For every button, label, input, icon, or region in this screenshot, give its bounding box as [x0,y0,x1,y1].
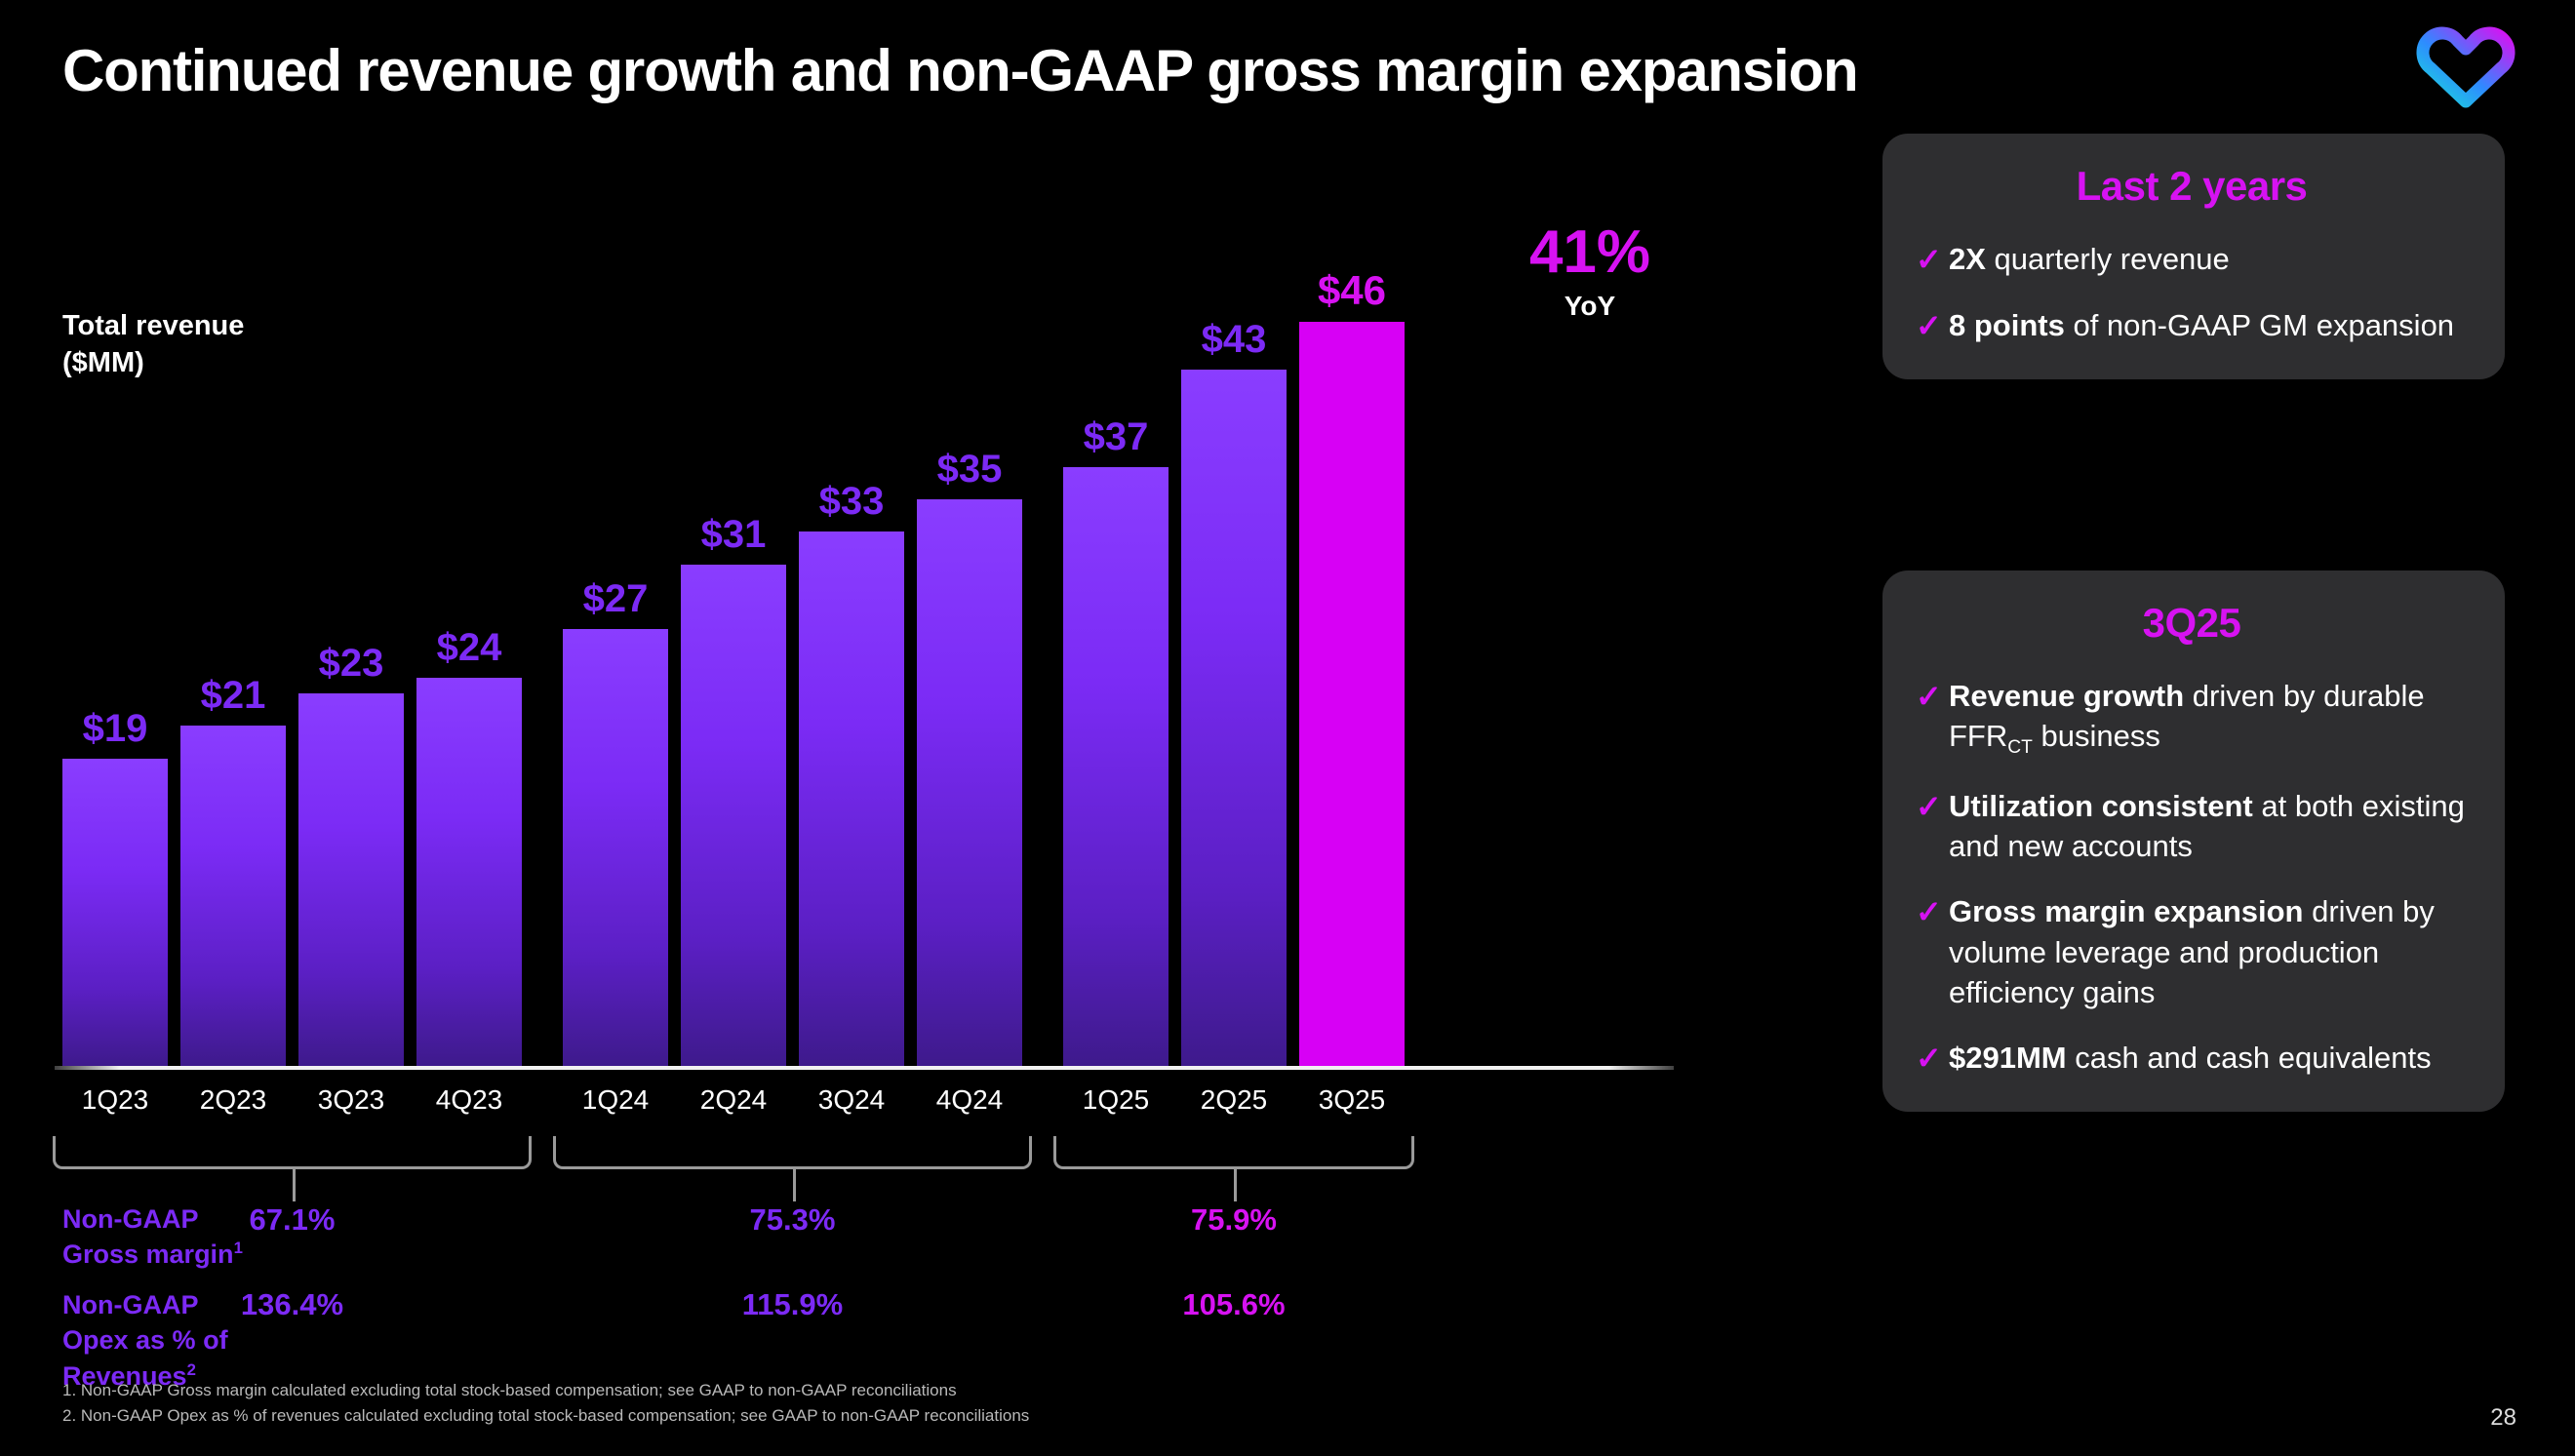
x-tick-2q25: 2Q25 [1181,1084,1287,1116]
bar-value-label: $33 [819,482,885,521]
x-tick-1q24: 1Q24 [563,1084,668,1116]
card-bullet-text: $291MM cash and cash equivalents [1949,1038,2432,1078]
card-bullet-text: Gross margin expansion driven by volume … [1949,891,2468,1012]
x-tick-3q24: 3Q24 [799,1084,904,1116]
subscript: CT [2007,737,2033,758]
check-icon: ✓ [1916,891,1949,932]
metric-value-fy25: 105.6% [1127,1287,1341,1322]
bar-2q23: $21 [180,224,286,1066]
bar-2q24: $31 [681,224,786,1066]
card-bullet-text: 8 points of non-GAAP GM expansion [1949,305,2454,345]
card-bullet: ✓Gross margin expansion driven by volume… [1916,891,2468,1012]
card-bullet-text: Utilization consistent at both existing … [1949,786,2468,866]
bar-4q24: $35 [917,224,1022,1066]
bar-value-label: $37 [1084,417,1149,456]
x-tick-1q23: 1Q23 [62,1084,168,1116]
x-tick-2q23: 2Q23 [180,1084,286,1116]
footnotes: 1. Non-GAAP Gross margin calculated excl… [62,1378,1029,1430]
bar-value-label: $24 [437,628,502,667]
metric-value-fy24: 75.3% [686,1202,900,1238]
x-tick-4q23: 4Q23 [416,1084,522,1116]
bar-value-label: $19 [83,709,148,748]
card-bullet-text: Revenue growth driven by durable FFRCT b… [1949,676,2468,761]
bar-value-label: $21 [201,676,266,715]
bar-value-label: $46 [1318,270,1386,311]
heart-infinity-logo-icon [2407,16,2524,123]
card-bullet: ✓2X quarterly revenue [1916,239,2468,280]
footnote-1: 1. Non-GAAP Gross margin calculated excl… [62,1378,1029,1403]
metric-value-fy23: 67.1% [185,1202,400,1238]
page-number: 28 [2490,1404,2516,1432]
bar-rect [1299,322,1405,1066]
bracket-group-2 [1053,1136,1414,1169]
x-tick-3q25: 3Q25 [1299,1084,1405,1116]
metric-value-fy23: 136.4% [185,1287,400,1322]
bar-rect [180,726,286,1066]
bar-rect [799,531,904,1066]
bar-3q23: $23 [298,224,404,1066]
bar-3q25: $46 [1299,224,1405,1066]
footnote-2: 2. Non-GAAP Opex as % of revenues calcul… [62,1403,1029,1429]
bar-rect [298,693,404,1066]
card-bullet-text: 2X quarterly revenue [1949,239,2230,279]
card-bullet-list: ✓Revenue growth driven by durable FFRCT … [1916,676,2468,1079]
bar-1q24: $27 [563,224,668,1066]
check-icon: ✓ [1916,239,1949,280]
bar-rect [1063,467,1169,1066]
bar-value-label: $27 [583,579,649,618]
bracket-stem-0 [293,1168,296,1201]
bar-1q25: $37 [1063,224,1169,1066]
card-title: 3Q25 [1916,600,2468,647]
metric-value-fy25: 75.9% [1127,1202,1341,1238]
card-bullet: ✓Utilization consistent at both existing… [1916,786,2468,866]
card-bullet-list: ✓2X quarterly revenue✓8 points of non-GA… [1916,239,2468,346]
card-3q25: 3Q25 ✓Revenue growth driven by durable F… [1882,571,2505,1112]
bracket-group-1 [553,1136,1032,1169]
bar-value-label: $43 [1202,320,1267,359]
check-icon: ✓ [1916,305,1949,346]
card-bullet: ✓Revenue growth driven by durable FFRCT … [1916,676,2468,761]
bar-4q23: $24 [416,224,522,1066]
metric-value-fy24: 115.9% [686,1287,900,1322]
bar-rect [1181,370,1287,1066]
card-last-2-years: Last 2 years ✓2X quarterly revenue✓8 poi… [1882,134,2505,379]
card-bullet: ✓$291MM cash and cash equivalents [1916,1038,2468,1079]
check-icon: ✓ [1916,1038,1949,1079]
bar-1q23: $19 [62,224,168,1066]
x-tick-3q23: 3Q23 [298,1084,404,1116]
bar-rect [917,499,1022,1066]
bar-rect [416,678,522,1066]
bracket-group-0 [53,1136,532,1169]
bracket-stem-1 [793,1168,796,1201]
bar-value-label: $35 [937,450,1003,489]
x-tick-1q25: 1Q25 [1063,1084,1169,1116]
x-tick-2q24: 2Q24 [681,1084,786,1116]
bar-value-label: $23 [319,644,384,683]
bracket-stem-2 [1234,1168,1237,1201]
x-tick-4q24: 4Q24 [917,1084,1022,1116]
check-icon: ✓ [1916,676,1949,717]
card-bullet: ✓8 points of non-GAAP GM expansion [1916,305,2468,346]
bar-rect [62,759,168,1066]
bar-rect [563,629,668,1066]
bar-rect [681,565,786,1066]
bar-2q25: $43 [1181,224,1287,1066]
footnote-marker: 2 [187,1360,196,1379]
x-axis-labels: 1Q232Q233Q234Q231Q242Q243Q244Q241Q252Q25… [62,1077,1662,1131]
bar-value-label: $31 [701,515,767,554]
footnote-marker: 1 [234,1239,243,1257]
check-icon: ✓ [1916,786,1949,827]
plot-area: $19$21$23$24$27$31$33$35$37$43$46 [62,224,1662,1066]
card-title: Last 2 years [1916,163,2468,210]
revenue-bar-chart: Total revenue ($MM) 41% YoY $19$21$23$24… [0,0,1717,1456]
axis-baseline [55,1066,1674,1070]
bar-3q24: $33 [799,224,904,1066]
